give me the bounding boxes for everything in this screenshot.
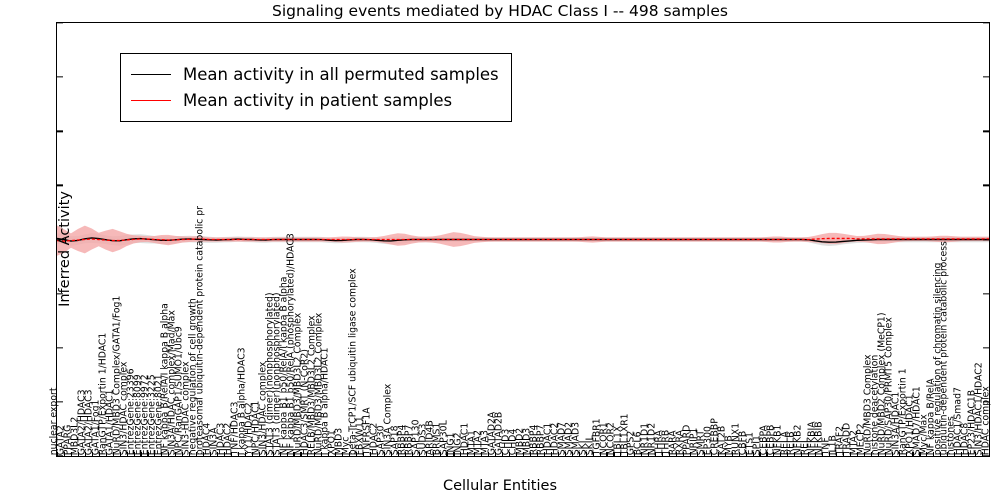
x-tick-mark	[558, 452, 559, 456]
y-tick-mark	[57, 347, 63, 348]
x-tick-mark	[182, 452, 183, 456]
x-tick-mark	[440, 452, 441, 456]
x-tick-mark	[106, 452, 107, 456]
x-tick-mark	[161, 452, 162, 456]
x-tick-mark	[878, 452, 879, 456]
x-tick-mark	[683, 452, 684, 456]
x-tick-mark	[349, 452, 350, 456]
y-tick-mark	[57, 239, 63, 240]
x-tick-mark	[787, 452, 788, 456]
x-tick-mark	[154, 452, 155, 456]
x-tick-mark	[906, 452, 907, 456]
x-tick-mark	[92, 452, 93, 456]
x-tick-mark	[613, 452, 614, 456]
y-tick-mark	[57, 401, 63, 402]
x-tick-mark	[175, 452, 176, 456]
x-tick-mark	[293, 452, 294, 456]
x-tick-mark	[551, 452, 552, 456]
x-tick-mark	[147, 452, 148, 456]
x-tick-mark	[933, 452, 934, 456]
x-tick-mark	[460, 452, 461, 456]
x-tick-mark	[836, 452, 837, 456]
x-tick-mark	[627, 452, 628, 456]
y-tick-mark	[57, 22, 63, 23]
x-tick-mark	[829, 452, 830, 456]
x-tick-mark	[384, 452, 385, 456]
x-tick-mark	[120, 452, 121, 456]
x-tick-mark	[495, 452, 496, 456]
x-tick-mark	[989, 452, 990, 456]
x-tick-mark	[572, 452, 573, 456]
x-tick-mark	[766, 452, 767, 456]
x-tick-mark	[78, 452, 79, 456]
x-tick-mark	[600, 452, 601, 456]
x-tick-mark	[321, 452, 322, 456]
x-tick-mark	[885, 452, 886, 456]
x-tick-mark	[843, 452, 844, 456]
x-tick-mark	[822, 452, 823, 456]
y-tick-mark	[57, 131, 63, 132]
x-tick-mark	[502, 452, 503, 456]
x-tick-mark	[565, 452, 566, 456]
x-tick-mark	[579, 452, 580, 456]
x-tick-mark	[287, 452, 288, 456]
x-tick-mark	[718, 452, 719, 456]
chart-legend: Mean activity in all permuted samples Me…	[120, 53, 512, 122]
x-tick-mark	[217, 452, 218, 456]
x-tick-mark	[314, 452, 315, 456]
x-tick-mark	[516, 452, 517, 456]
x-tick-mark	[523, 452, 524, 456]
x-tick-mark	[273, 452, 274, 456]
x-tick-mark	[224, 452, 225, 456]
x-tick-mark	[864, 452, 865, 456]
legend-swatch-permuted	[131, 74, 171, 75]
x-tick-mark	[871, 452, 872, 456]
x-tick-mark	[433, 452, 434, 456]
x-tick-mark	[71, 452, 72, 456]
x-tick-mark	[113, 452, 114, 456]
y-tick-mark	[983, 76, 989, 77]
x-tick-mark	[711, 452, 712, 456]
y-tick-mark	[57, 76, 63, 77]
x-tick-mark	[474, 452, 475, 456]
x-tick-mark	[954, 452, 955, 456]
x-tick-mark	[481, 452, 482, 456]
y-tick-mark	[983, 347, 989, 348]
x-tick-mark	[231, 452, 232, 456]
x-tick-mark	[238, 452, 239, 456]
x-tick-mark	[892, 452, 893, 456]
x-tick-mark	[189, 452, 190, 456]
x-tick-mark	[419, 452, 420, 456]
x-tick-mark	[453, 452, 454, 456]
x-tick-mark	[746, 452, 747, 456]
x-tick-mark	[467, 452, 468, 456]
x-tick-mark	[370, 452, 371, 456]
x-tick-mark	[203, 452, 204, 456]
x-tick-mark	[593, 452, 594, 456]
x-tick-mark	[586, 452, 587, 456]
x-tick-mark	[488, 452, 489, 456]
y-axis-title: Inferred Activity	[57, 29, 73, 469]
y-tick-mark	[57, 293, 63, 294]
x-tick-mark	[697, 452, 698, 456]
x-tick-mark	[947, 452, 948, 456]
y-tick-mark	[983, 239, 989, 240]
x-tick-mark	[168, 452, 169, 456]
x-tick-mark	[391, 452, 392, 456]
x-tick-mark	[655, 452, 656, 456]
plot-area: Inferred Activity 43210−1−2−3−4 Mean act…	[56, 22, 990, 457]
chart-root: Signaling events mediated by HDAC Class …	[0, 0, 1000, 500]
x-tick-mark	[64, 452, 65, 456]
x-tick-mark	[266, 452, 267, 456]
x-tick-mark	[968, 452, 969, 456]
x-tick-mark	[899, 452, 900, 456]
x-tick-mark	[537, 452, 538, 456]
x-axis-title: Cellular Entities	[0, 478, 1000, 494]
legend-label-patient: Mean activity in patient samples	[183, 91, 452, 110]
x-tick-mark	[753, 452, 754, 456]
x-tick-mark	[926, 452, 927, 456]
x-tick-mark	[620, 452, 621, 456]
x-tick-mark	[426, 452, 427, 456]
x-tick-mark	[140, 452, 141, 456]
x-tick-mark	[280, 452, 281, 456]
legend-label-permuted: Mean activity in all permuted samples	[183, 65, 499, 84]
x-tick-mark	[940, 452, 941, 456]
x-tick-mark	[801, 452, 802, 456]
x-tick-mark	[982, 452, 983, 456]
x-tick-mark	[794, 452, 795, 456]
x-tick-mark	[363, 452, 364, 456]
legend-swatch-patient	[131, 100, 171, 101]
x-tick-mark	[85, 452, 86, 456]
x-tick-mark	[773, 452, 774, 456]
x-tick-mark	[759, 452, 760, 456]
legend-entry-permuted: Mean activity in all permuted samples	[131, 61, 499, 87]
x-tick-mark	[975, 452, 976, 456]
x-tick-mark	[377, 452, 378, 456]
x-tick-mark	[919, 452, 920, 456]
x-tick-mark	[446, 452, 447, 456]
x-tick-mark	[509, 452, 510, 456]
x-tick-mark	[641, 452, 642, 456]
x-tick-mark	[127, 452, 128, 456]
y-tick-mark	[983, 22, 989, 23]
x-tick-mark	[544, 452, 545, 456]
x-tick-mark	[342, 452, 343, 456]
x-tick-mark	[732, 452, 733, 456]
x-tick-mark	[850, 452, 851, 456]
y-tick-mark	[983, 131, 989, 132]
x-tick-mark	[606, 452, 607, 456]
x-tick-mark	[245, 452, 246, 456]
x-tick-mark	[196, 452, 197, 456]
y-tick-mark	[983, 293, 989, 294]
y-tick-mark	[983, 401, 989, 402]
x-tick-mark	[669, 452, 670, 456]
x-tick-mark	[134, 452, 135, 456]
x-tick-mark	[99, 452, 100, 456]
x-tick-mark	[739, 452, 740, 456]
x-tick-mark	[252, 452, 253, 456]
x-tick-mark	[412, 452, 413, 456]
x-tick-mark	[405, 452, 406, 456]
x-tick-mark	[57, 452, 58, 456]
x-tick-mark	[356, 452, 357, 456]
y-tick-mark	[57, 185, 63, 186]
x-tick-mark	[300, 452, 301, 456]
x-tick-mark	[690, 452, 691, 456]
x-tick-mark	[961, 452, 962, 456]
x-tick-mark	[815, 452, 816, 456]
y-tick-mark	[983, 185, 989, 186]
x-tick-mark	[335, 452, 336, 456]
x-tick-mark	[634, 452, 635, 456]
x-tick-mark	[648, 452, 649, 456]
x-tick-mark	[398, 452, 399, 456]
x-tick-mark	[259, 452, 260, 456]
x-tick-mark	[808, 452, 809, 456]
x-tick-mark	[210, 452, 211, 456]
x-tick-mark	[912, 452, 913, 456]
x-tick-mark	[307, 452, 308, 456]
x-tick-mark	[857, 452, 858, 456]
chart-title: Signaling events mediated by HDAC Class …	[0, 2, 1000, 20]
x-tick-mark	[704, 452, 705, 456]
x-tick-mark	[662, 452, 663, 456]
x-tick-mark	[530, 452, 531, 456]
x-tick-mark	[725, 452, 726, 456]
x-tick-mark	[676, 452, 677, 456]
x-tick-mark	[780, 452, 781, 456]
legend-entry-patient: Mean activity in patient samples	[131, 87, 499, 113]
x-tick-mark	[328, 452, 329, 456]
